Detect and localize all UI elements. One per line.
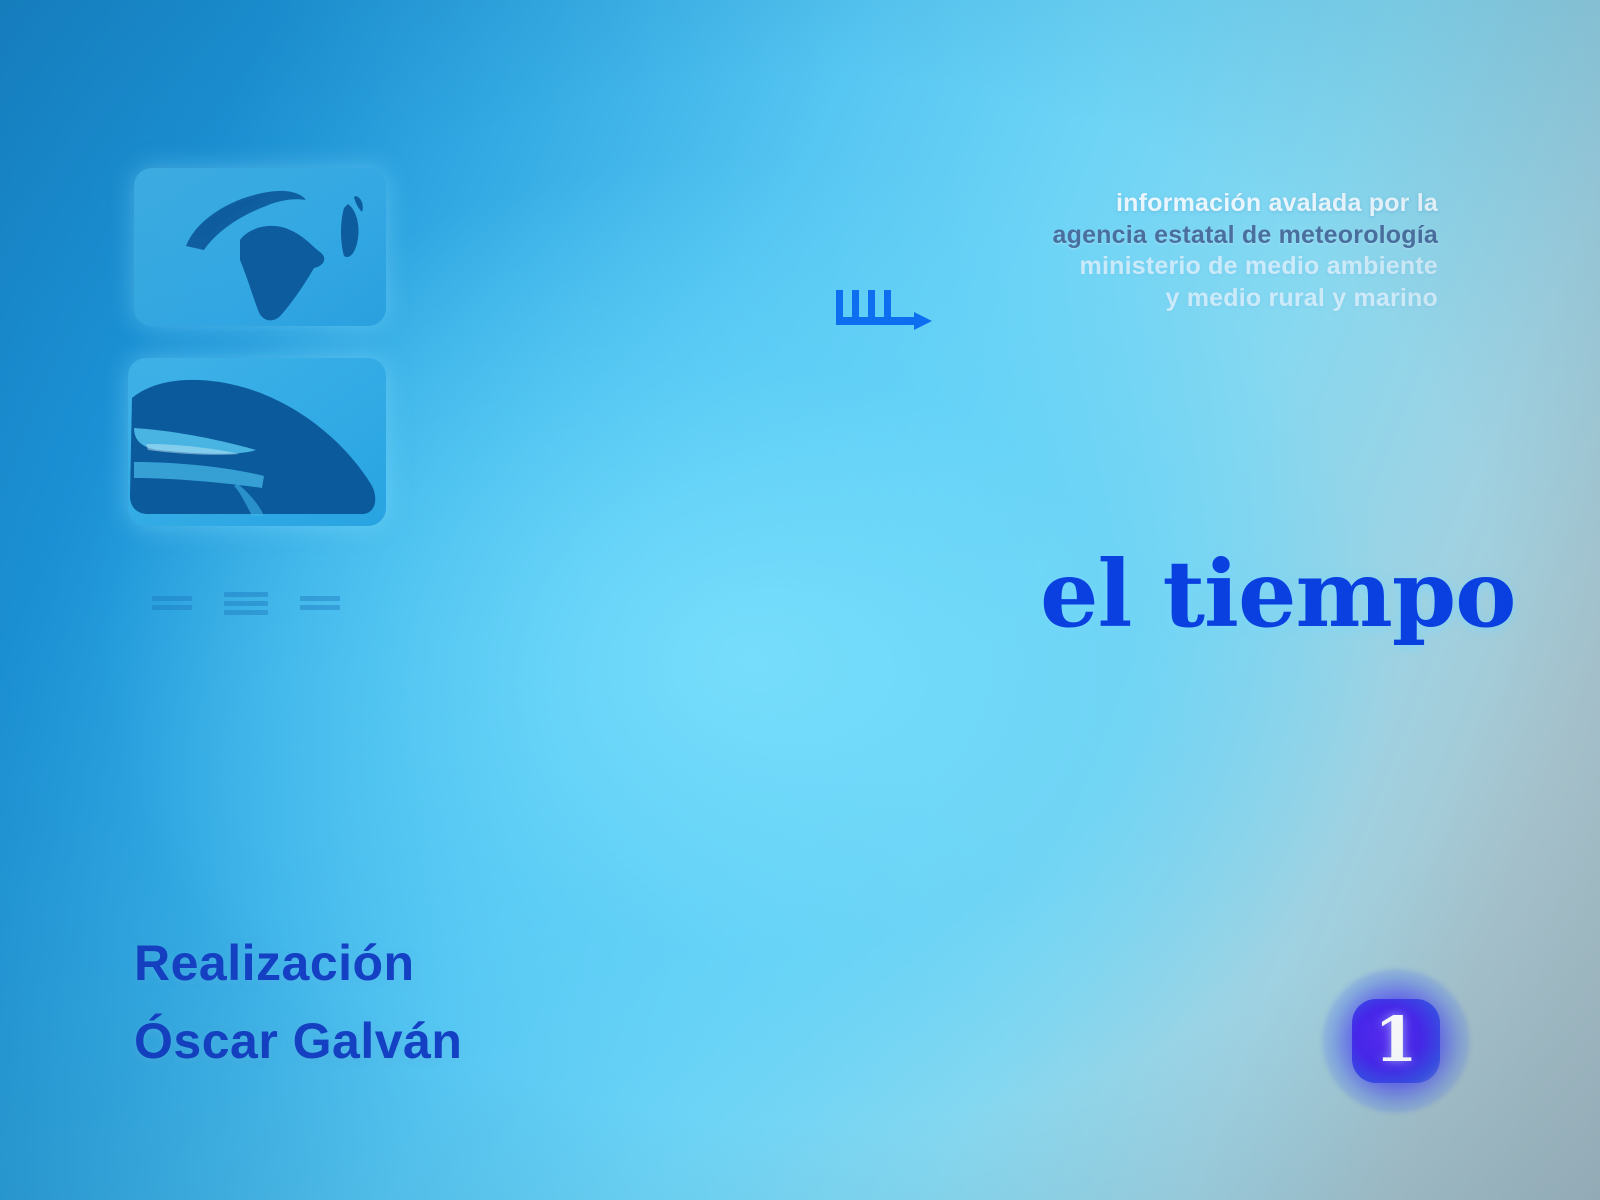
- channel-logo-badge: 1: [1348, 995, 1444, 1087]
- comb-arrow-icon: [832, 286, 936, 334]
- credit-role: Realización: [134, 925, 462, 1003]
- bar-mark-1: [152, 596, 192, 610]
- bar-mark-2: [224, 592, 268, 615]
- credit-name: Óscar Galván: [134, 1003, 462, 1081]
- credits-block: Realización Óscar Galván: [134, 925, 462, 1080]
- attribution-line-3: ministerio de medio ambiente: [968, 251, 1438, 283]
- bar-marks-row: [152, 586, 362, 620]
- channel-number: 1: [1348, 995, 1444, 1087]
- attribution-line-1: información avalada por la: [968, 188, 1438, 220]
- program-title: el tiempo: [1040, 540, 1516, 648]
- attribution-line-4: y medio rural y marino: [968, 283, 1438, 315]
- attribution-line-2: agencia estatal de meteorología: [968, 220, 1438, 252]
- cloud-landscape-thumbnail: [128, 358, 386, 526]
- globe-map-thumbnail: [134, 168, 386, 326]
- broadcast-end-card: información avalada por la agencia estat…: [0, 0, 1600, 1200]
- attribution-block: información avalada por la agencia estat…: [968, 188, 1438, 314]
- bar-mark-3: [300, 596, 340, 610]
